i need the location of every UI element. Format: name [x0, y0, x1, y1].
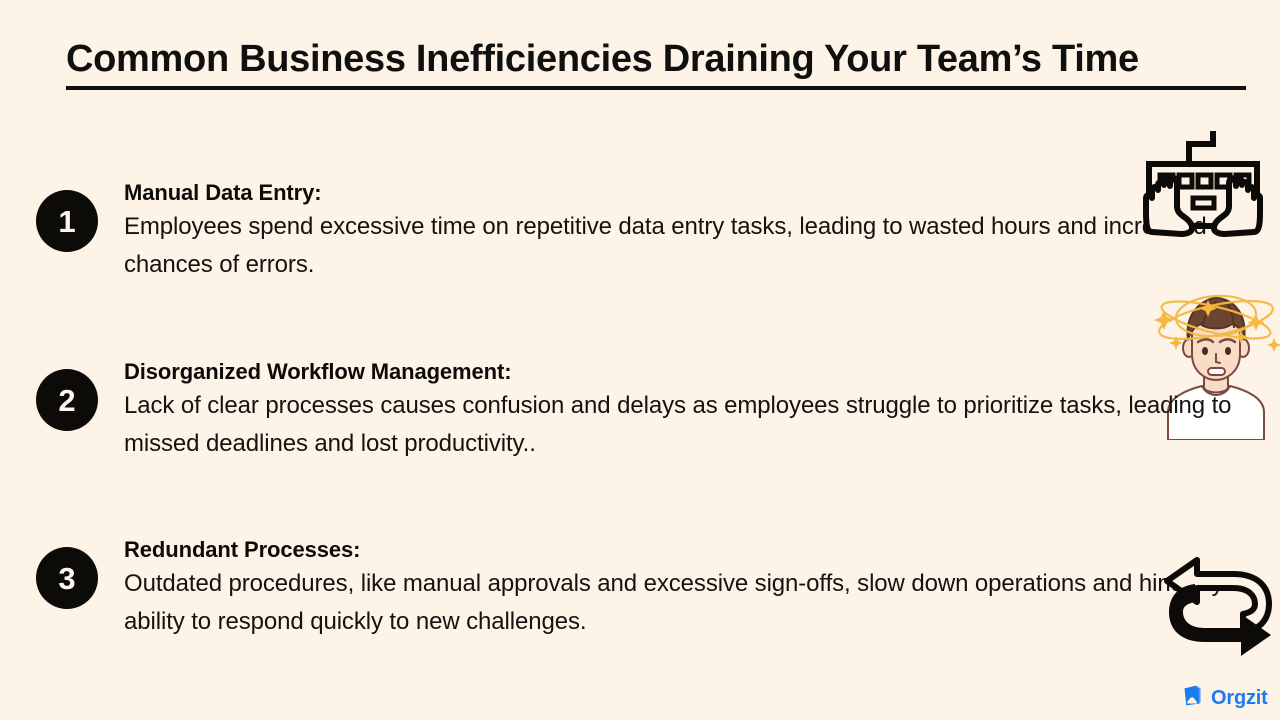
- item-description: Lack of clear processes causes confusion…: [124, 387, 1280, 464]
- orgzit-logo-mark: [1180, 683, 1205, 713]
- item-number-badge: 3: [36, 547, 98, 609]
- item-heading: Disorganized Workflow Management:: [124, 357, 1280, 387]
- orgzit-logo: Orgzit: [1180, 683, 1268, 713]
- item-number-badge: 2: [36, 369, 98, 431]
- item-number-badge: 1: [36, 190, 98, 252]
- item-description: Outdated procedures, like manual approva…: [124, 565, 1280, 642]
- orgzit-logo-text: Orgzit: [1211, 687, 1268, 710]
- item-body: Manual Data Entry: Employees spend exces…: [124, 178, 1280, 284]
- item-description: Employees spend excessive time on repeti…: [124, 208, 1280, 285]
- item-heading: Manual Data Entry:: [124, 178, 1280, 208]
- item-body: Redundant Processes: Outdated procedures…: [124, 535, 1280, 641]
- slide-canvas: Common Business Inefficiencies Draining …: [0, 0, 1280, 720]
- item-heading: Redundant Processes:: [124, 535, 1280, 565]
- recycle-arrows-icon: [1157, 552, 1280, 664]
- page-title: Common Business Inefficiencies Draining …: [66, 36, 1246, 90]
- keyboard-typing-hands-icon: [1143, 130, 1263, 240]
- item-body: Disorganized Workflow Management: Lack o…: [124, 357, 1280, 463]
